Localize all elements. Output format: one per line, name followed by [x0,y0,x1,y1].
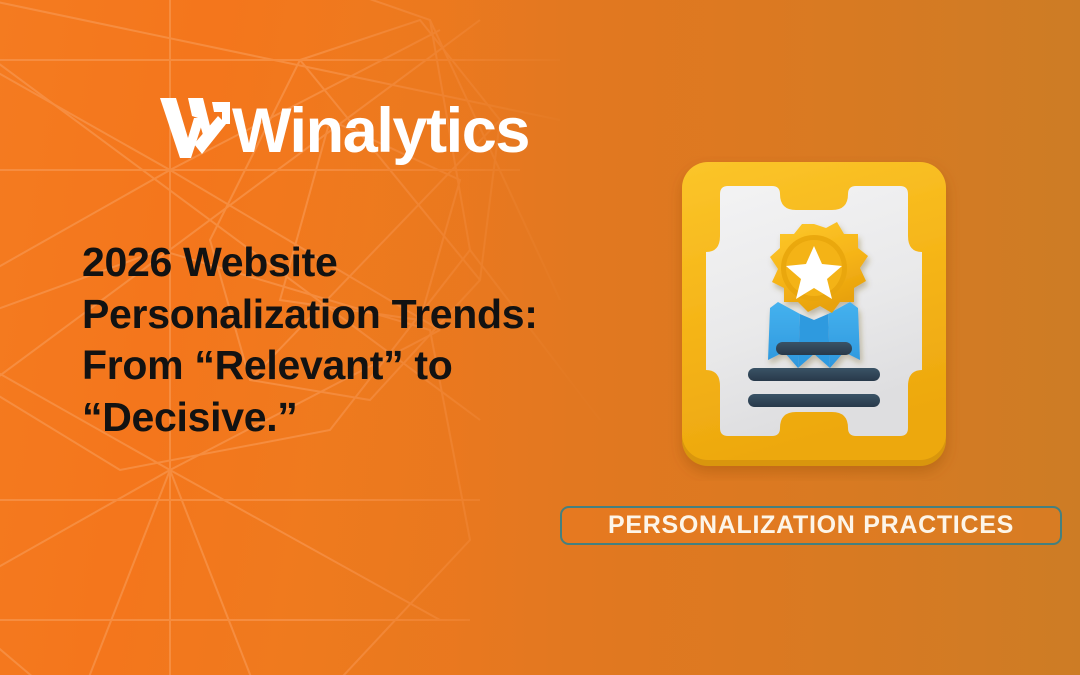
promo-slide: Winalytics 2026 Website Personalization … [0,0,1080,675]
headline-line-1: 2026 Website [82,237,612,289]
headline-line-3: From “Relevant” to [82,340,612,392]
page-title: 2026 Website Personalization Trends: Fro… [82,237,612,444]
certificate-award-icon [668,156,968,481]
status-badge-label: PERSONALIZATION PRACTICES [608,513,1014,538]
headline-line-4: “Decisive.” [82,392,612,444]
brand-logo-text: Winalytics [232,100,529,163]
w-arrow-logo-mark [158,94,236,162]
brand-logo[interactable]: Winalytics [158,92,529,164]
status-badge[interactable]: PERSONALIZATION PRACTICES [560,506,1062,545]
headline-line-2: Personalization Trends: [82,289,612,341]
